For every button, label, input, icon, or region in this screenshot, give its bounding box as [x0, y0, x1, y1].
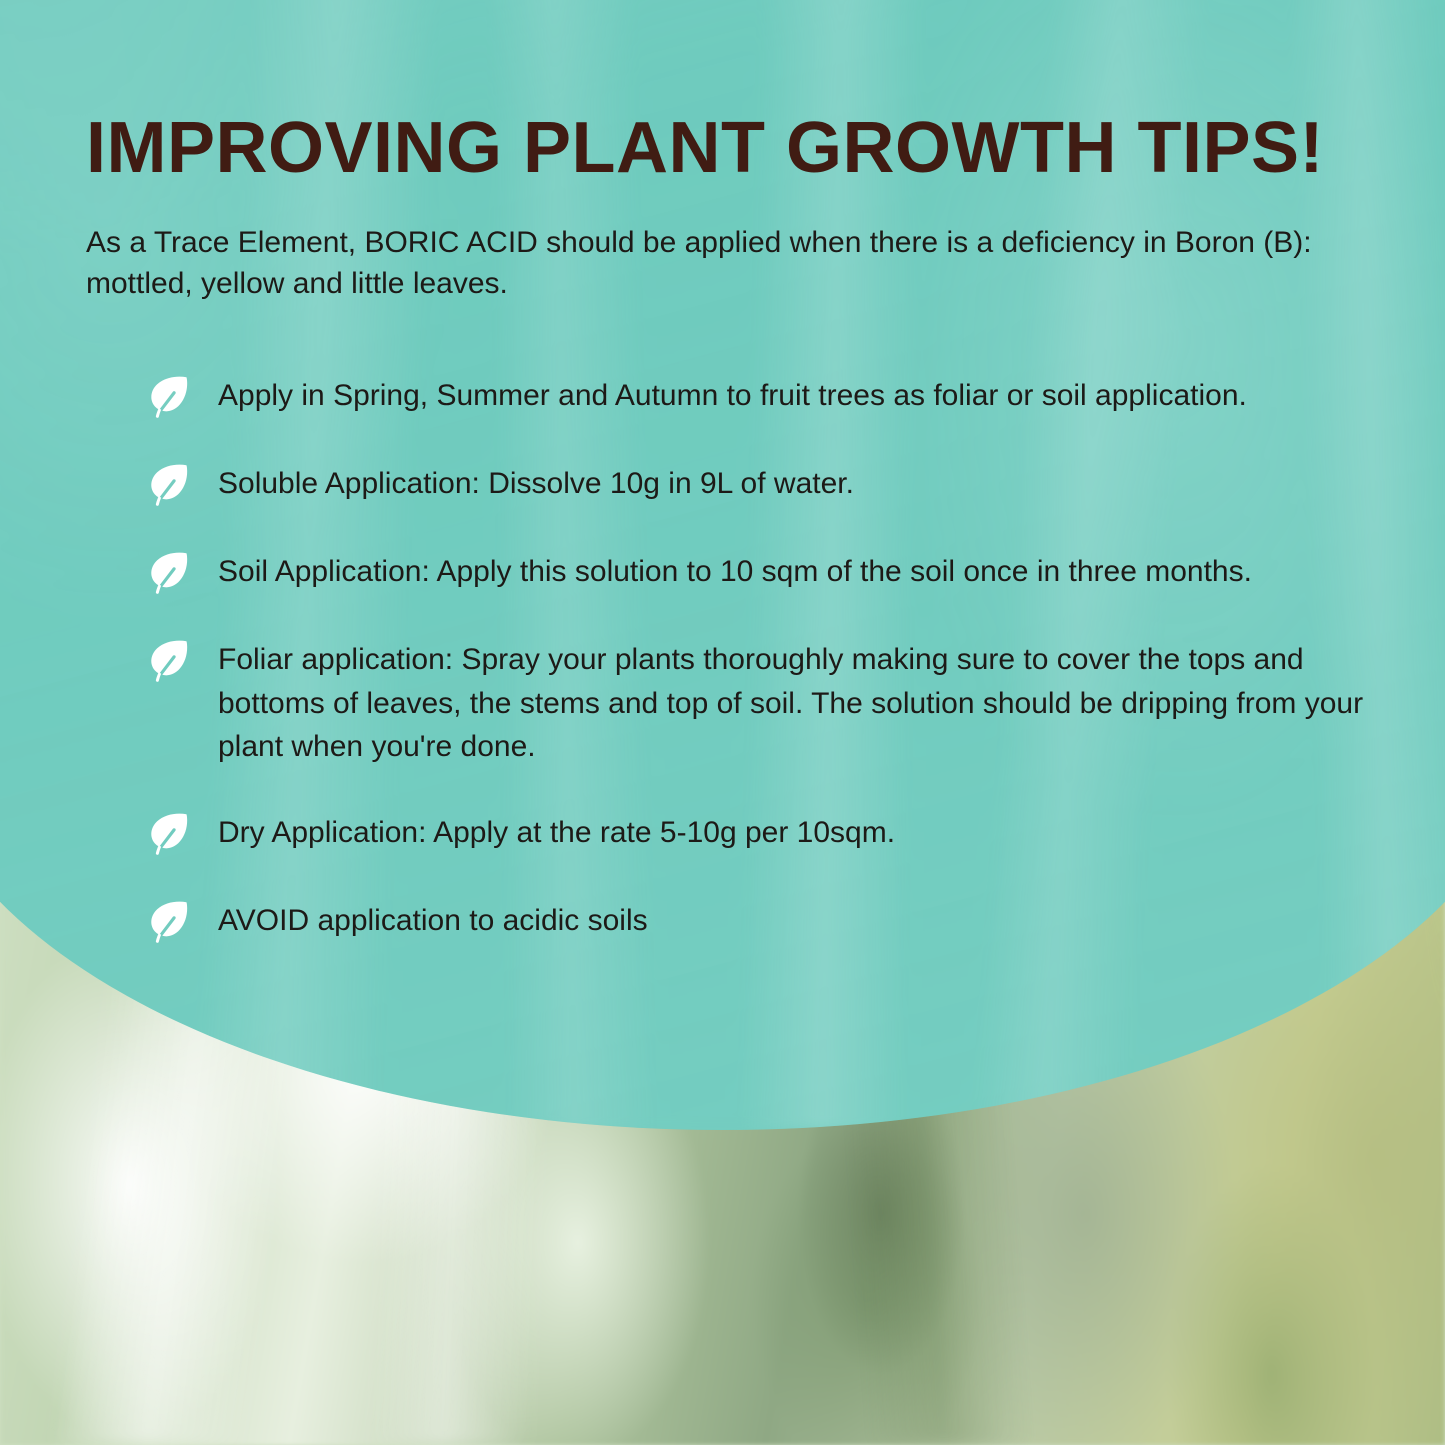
- list-item: Dry Application: Apply at the rate 5-10g…: [146, 809, 1402, 857]
- leaf-icon: [146, 550, 192, 596]
- list-item: Foliar application: Spray your plants th…: [146, 636, 1402, 769]
- poster-canvas: IMPROVING PLANT GROWTH TIPS! As a Trace …: [0, 0, 1445, 1445]
- leaf-icon: [146, 899, 192, 945]
- leaf-icon: [146, 638, 192, 684]
- list-item: Soluble Application: Dissolve 10g in 9L …: [146, 460, 1402, 508]
- list-item-label: AVOID application to acidic soils: [218, 897, 648, 943]
- page-title: IMPROVING PLANT GROWTH TIPS!: [86, 112, 1324, 184]
- leaf-icon: [146, 462, 192, 508]
- list-item-label: Dry Application: Apply at the rate 5-10g…: [218, 809, 895, 855]
- list-item-label: Apply in Spring, Summer and Autumn to fr…: [218, 372, 1247, 418]
- tips-list: Apply in Spring, Summer and Autumn to fr…: [146, 372, 1402, 985]
- leaf-icon: [146, 811, 192, 857]
- list-item: AVOID application to acidic soils: [146, 897, 1402, 945]
- list-item-label: Soluble Application: Dissolve 10g in 9L …: [218, 460, 854, 506]
- list-item-label: Soil Application: Apply this solution to…: [218, 548, 1252, 594]
- leaf-icon: [146, 374, 192, 420]
- list-item-label: Foliar application: Spray your plants th…: [218, 636, 1402, 769]
- list-item: Apply in Spring, Summer and Autumn to fr…: [146, 372, 1402, 420]
- list-item: Soil Application: Apply this solution to…: [146, 548, 1402, 596]
- intro-paragraph: As a Trace Element, BORIC ACID should be…: [86, 222, 1356, 305]
